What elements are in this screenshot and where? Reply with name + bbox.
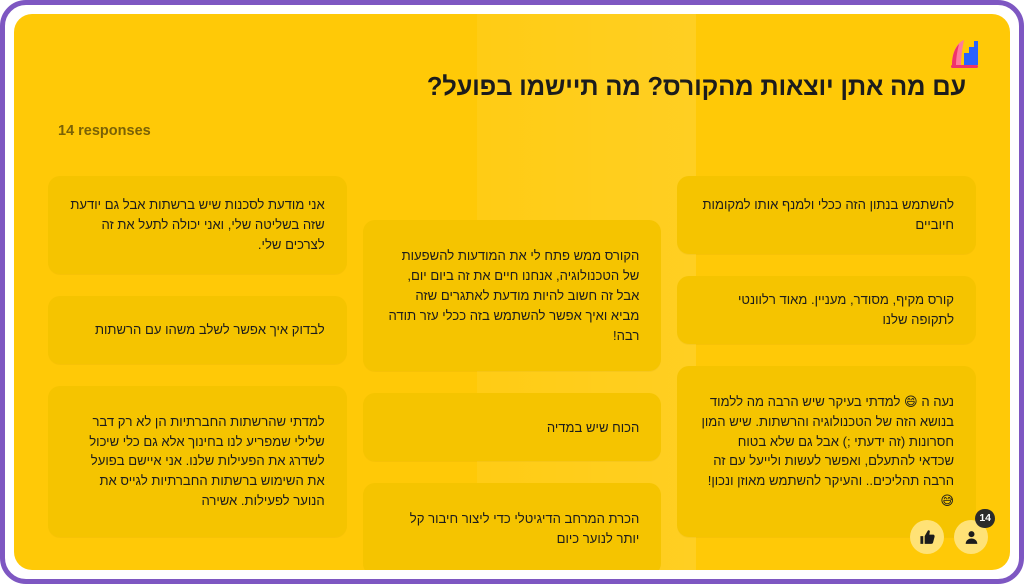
person-icon (963, 529, 980, 546)
response-text: אני מודעת לסכנות שיש ברשתות אבל גם יודעת… (70, 195, 325, 255)
responses-columns: אני מודעת לסכנות שיש ברשתות אבל גם יודעת… (48, 176, 976, 536)
response-text: לבדוק איך אפשר לשלב משהו עם הרשתות (70, 320, 325, 340)
responses-count: 14 responses (58, 123, 966, 139)
response-card: נעה ה 😄 למדתי בעיקר שיש הרבה מה ללמוד בנ… (677, 366, 976, 537)
response-text: להשתמש בנתון הזה ככלי ולמנף אותו למקומות… (699, 195, 954, 235)
like-button[interactable] (910, 520, 944, 554)
column-middle: הקורס ממש פתח לי את המודעות להשפעות של ה… (363, 176, 662, 536)
response-text: למדתי שהרשתות החברתיות הן לא רק דבר שליל… (70, 412, 325, 511)
mentimeter-logo (942, 31, 986, 75)
response-card: הכוח שיש במדיה (363, 393, 662, 461)
response-card: הקורס ממש פתח לי את המודעות להשפעות של ה… (363, 220, 662, 371)
slide-header: עם מה אתן יוצאות מהקורס? מה תיישמו בפועל… (58, 72, 966, 139)
response-text: הכוח שיש במדיה (385, 418, 640, 438)
response-text: הקורס ממש פתח לי את המודעות להשפעות של ה… (385, 246, 640, 345)
response-text: הכרת המרחב הדיגיטלי כדי ליצור חיבור קל י… (385, 509, 640, 549)
page-title: עם מה אתן יוצאות מהקורס? מה תיישמו בפועל… (58, 72, 966, 104)
thumbs-up-icon (919, 529, 936, 546)
response-card: הכרת המרחב הדיגיטלי כדי ליצור חיבור קל י… (363, 483, 662, 570)
column-right: להשתמש בנתון הזה ככלי ולמנף אותו למקומות… (677, 176, 976, 536)
response-text: נעה ה 😄 למדתי בעיקר שיש הרבה מה ללמוד בנ… (699, 392, 954, 511)
response-card: להשתמש בנתון הזה ככלי ולמנף אותו למקומות… (677, 176, 976, 254)
participants-button[interactable]: 14 (954, 520, 988, 554)
response-card: אני מודעת לסכנות שיש ברשתות אבל גם יודעת… (48, 176, 347, 274)
bottom-controls: 14 (910, 520, 988, 554)
response-text: קורס מקיף, מסודר, מעניין. מאוד רלוונטי ל… (699, 290, 954, 330)
slide-frame: עם מה אתן יוצאות מהקורס? מה תיישמו בפועל… (0, 0, 1024, 584)
column-left: אני מודעת לסכנות שיש ברשתות אבל גם יודעת… (48, 176, 347, 536)
response-card: למדתי שהרשתות החברתיות הן לא רק דבר שליל… (48, 386, 347, 537)
slide-stage: עם מה אתן יוצאות מהקורס? מה תיישמו בפועל… (14, 14, 1010, 570)
response-card: לבדוק איך אפשר לשלב משהו עם הרשתות (48, 296, 347, 364)
participants-badge: 14 (975, 509, 995, 528)
response-card: קורס מקיף, מסודר, מעניין. מאוד רלוונטי ל… (677, 276, 976, 344)
